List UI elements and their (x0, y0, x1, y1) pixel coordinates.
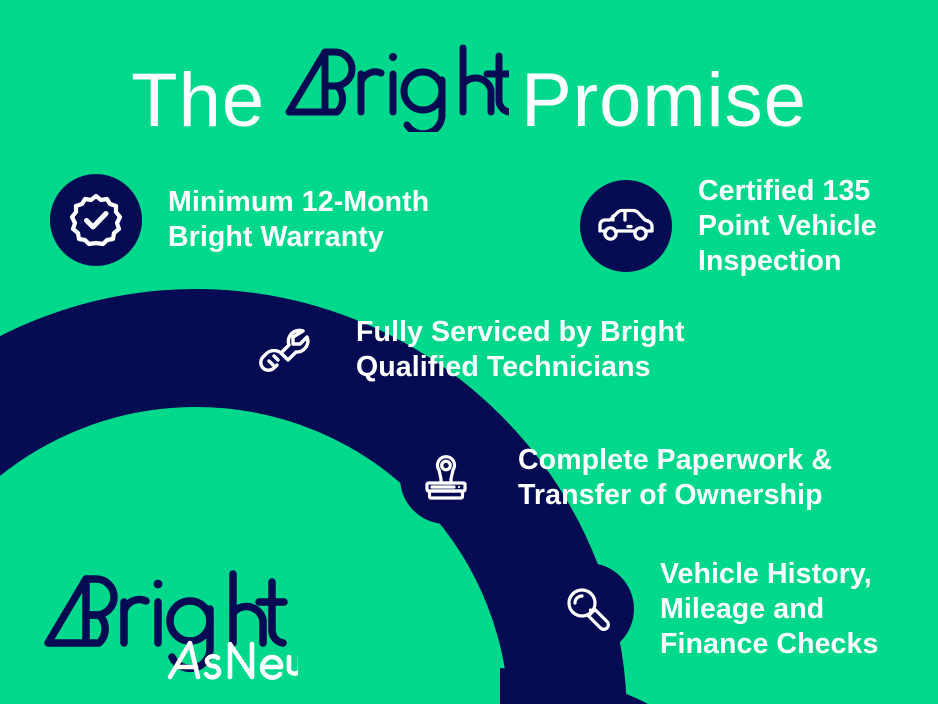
feature-label: Certified 135 Point Vehicle Inspection (698, 174, 877, 278)
car-icon (580, 180, 672, 272)
wrench-plug-icon (238, 304, 330, 396)
title-prefix: The (131, 63, 265, 139)
magnifier-icon (542, 563, 634, 655)
brand-logo-secondary (170, 643, 298, 678)
brand-logo-primary (48, 574, 284, 668)
feature-label: Fully Serviced by Bright Qualified Techn… (356, 315, 685, 385)
title-suffix: Promise (521, 63, 807, 139)
navy-wedge-shape (500, 668, 648, 704)
title-brand-logo (277, 40, 509, 136)
brand-logo-bright-as-new (38, 565, 298, 680)
feature-item-warranty: Minimum 12-Month Bright Warranty (50, 174, 429, 266)
feature-label: Minimum 12-Month Bright Warranty (168, 185, 429, 255)
verified-badge-icon (50, 174, 142, 266)
feature-item-history-checks: Vehicle History, Mileage and Finance Che… (542, 557, 878, 661)
feature-label: Complete Paperwork & Transfer of Ownersh… (518, 443, 832, 513)
feature-item-paperwork: Complete Paperwork & Transfer of Ownersh… (400, 432, 832, 524)
feature-label: Vehicle History, Mileage and Finance Che… (660, 557, 878, 661)
page-title: The (0, 34, 938, 139)
feature-item-servicing: Fully Serviced by Bright Qualified Techn… (238, 304, 685, 396)
promo-graphic: The (0, 0, 938, 704)
feature-item-inspection: Certified 135 Point Vehicle Inspection (580, 174, 877, 278)
rubber-stamp-icon (400, 432, 492, 524)
